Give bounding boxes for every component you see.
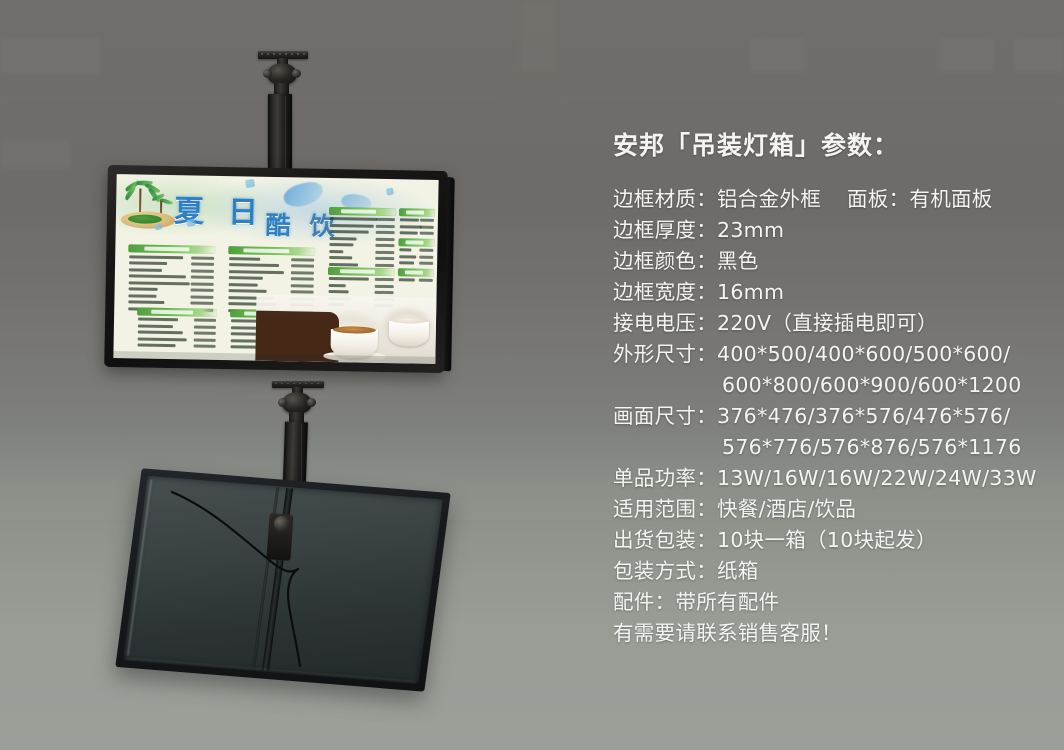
spec-line-11: 出货包装：10块一箱（10块起发）	[613, 525, 1043, 556]
spec-value: 快餐/酒店/饮品	[717, 497, 856, 521]
power-cable	[128, 470, 438, 690]
spec-label: 边框宽度：	[613, 280, 717, 304]
spec-value: 16mm	[717, 280, 784, 304]
spec-label: 边框颜色：	[613, 249, 717, 273]
spec-label: 配件：	[613, 590, 675, 614]
spec-value: 400*500/400*600/500*600/	[717, 342, 1010, 366]
spec-label: 有需要请联系销售客服！	[613, 621, 842, 645]
mount-bolt-right-lower	[307, 398, 316, 407]
spec-label: 包装方式：	[613, 559, 717, 583]
spec-value: 220V（直接插电即可）	[717, 311, 938, 335]
product-photo-canvas: 夏 日 酷 饮	[0, 0, 1064, 750]
spec-label: 出货包装：	[613, 528, 717, 552]
spec-value: 13W/16W/16W/22W/24W/33W	[717, 466, 1037, 490]
spec-value: 576*776/576*876/576*1176	[722, 435, 1022, 459]
spec-line-4: 接电电压：220V（直接插电即可）	[613, 308, 1043, 339]
spec-line-14: 有需要请联系销售客服！	[613, 618, 1043, 649]
spec-label: 单品功率：	[613, 466, 717, 490]
spec-value-2: 有机面板	[909, 187, 992, 211]
spec-label-2: 面板：	[847, 187, 909, 211]
spec-line-1: 边框厚度：23mm	[613, 215, 1043, 246]
spec-label: 外形尺寸：	[613, 342, 717, 366]
spec-value: 黑色	[717, 249, 759, 273]
mount-bolt-left-lower	[278, 398, 287, 407]
spec-title: 安邦「吊装灯箱」参数：	[613, 126, 1043, 162]
spec-label: 边框厚度：	[613, 218, 717, 242]
spec-value: 600*800/600*900/600*1200	[722, 373, 1022, 397]
spec-line-6: 600*800/600*900/600*1200	[613, 370, 1043, 401]
spec-label: 适用范围：	[613, 497, 717, 521]
spec-value: 带所有配件	[675, 590, 779, 614]
spec-line-8: 576*776/576*876/576*1176	[613, 432, 1043, 463]
spec-label: 画面尺寸：	[613, 404, 717, 428]
spec-value: 376*476/376*576/476*576/	[717, 404, 1010, 428]
spec-value: 铝合金外框	[717, 187, 821, 211]
spec-label: 接电电压：	[613, 311, 717, 335]
spec-label: 边框材质：	[613, 187, 717, 211]
spec-line-2: 边框颜色：黑色	[613, 246, 1043, 277]
spec-line-13: 配件：带所有配件	[613, 587, 1043, 618]
spec-line-0: 边框材质：铝合金外框面板：有机面板	[613, 184, 1043, 215]
spec-value: 23mm	[717, 218, 784, 242]
spec-line-7: 画面尺寸：376*476/376*576/476*576/	[613, 401, 1043, 432]
spec-text-panel: 安邦「吊装灯箱」参数： 边框材质：铝合金外框面板：有机面板边框厚度：23mm边框…	[613, 126, 1043, 649]
spec-line-5: 外形尺寸：400*500/400*600/500*600/	[613, 339, 1043, 370]
spec-line-10: 适用范围：快餐/酒店/饮品	[613, 494, 1043, 525]
spec-line-12: 包装方式：纸箱	[613, 556, 1043, 587]
lightbox-back-panel[interactable]	[128, 480, 438, 680]
spec-value: 纸箱	[717, 559, 759, 583]
spec-line-list: 边框材质：铝合金外框面板：有机面板边框厚度：23mm边框颜色：黑色边框宽度：16…	[613, 184, 1043, 649]
spec-line-9: 单品功率：13W/16W/16W/22W/24W/33W	[613, 463, 1043, 494]
spec-value: 10块一箱（10块起发）	[717, 528, 937, 552]
spec-line-3: 边框宽度：16mm	[613, 277, 1043, 308]
